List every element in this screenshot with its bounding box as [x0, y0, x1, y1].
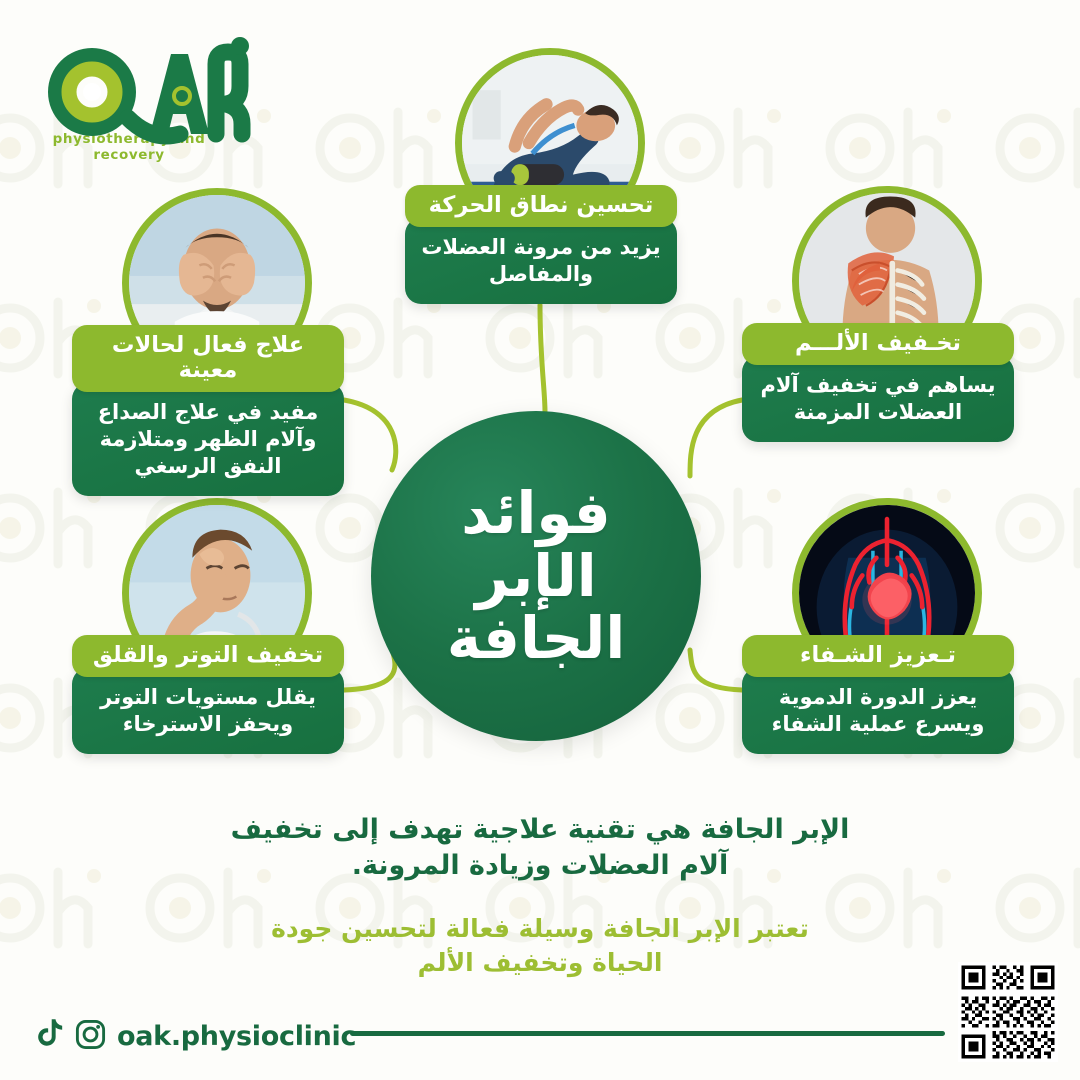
benefit-card-title: تخفيف التوتر والقلق [72, 635, 344, 677]
sub-paragraph: تعتبر الإبر الجافة وسيلة فعالة لتحسين جو… [260, 912, 820, 979]
footer-bar: oak.physioclinic [0, 984, 1080, 1080]
benefit-card-body: يقلل مستويات التوتر ويحفز الاسترخاء [72, 668, 344, 754]
hub-title: فوائد الإبر الجافة [431, 482, 641, 670]
benefit-card-body: يزيد من مرونة العضلات والمفاصل [405, 218, 677, 304]
benefit-card-right[interactable]: تخـفيف الألـــم يساهم في تخفيف آلام العض… [742, 323, 1014, 442]
instagram-icon[interactable] [75, 1019, 106, 1054]
social-handle-group[interactable]: oak.physioclinic [34, 1018, 356, 1054]
hub-line-1: فوائد [447, 482, 625, 545]
qr-code[interactable] [958, 962, 1058, 1062]
footer-copy: الإبر الجافة هي تقنية علاجية تهدف إلى تخ… [0, 812, 1080, 979]
benefit-card-top[interactable]: تحسين نطاق الحركة يزيد من مرونة العضلات … [405, 185, 677, 304]
benefit-card-title: تـعزيز الشـفاء [742, 635, 1014, 677]
benefit-card-title: تخـفيف الألـــم [742, 323, 1014, 365]
benefit-card-body: يعزز الدورة الدموية ويسرع عملية الشفاء [742, 668, 1014, 754]
lead-paragraph: الإبر الجافة هي تقنية علاجية تهدف إلى تخ… [220, 812, 860, 884]
infographic-canvas: physiotherapy and recovery [0, 0, 1080, 1080]
benefit-card-body: يساهم في تخفيف آلام العضلات المزمنة [742, 356, 1014, 442]
footer-divider [350, 1031, 945, 1036]
benefit-card-bottom-right[interactable]: تـعزيز الشـفاء يعزز الدورة الدموية ويسرع… [742, 635, 1014, 754]
benefit-card-title: علاج فعال لحالات معينة [72, 325, 344, 392]
benefit-card-bottom-left[interactable]: تخفيف التوتر والقلق يقلل مستويات التوتر … [72, 635, 344, 754]
tiktok-icon[interactable] [34, 1018, 64, 1054]
hub-line-2: الإبر [447, 545, 625, 608]
social-handle[interactable]: oak.physioclinic [117, 1021, 356, 1052]
hub-line-3: الجافة [447, 607, 625, 670]
benefit-card-body: مفيد في علاج الصداع وآلام الظهر ومتلازمة… [72, 383, 344, 496]
benefit-card-title: تحسين نطاق الحركة [405, 185, 677, 227]
center-hub: فوائد الإبر الجافة [371, 411, 701, 741]
benefit-card-left[interactable]: علاج فعال لحالات معينة مفيد في علاج الصد… [72, 325, 344, 496]
oak-logo [30, 34, 280, 159]
